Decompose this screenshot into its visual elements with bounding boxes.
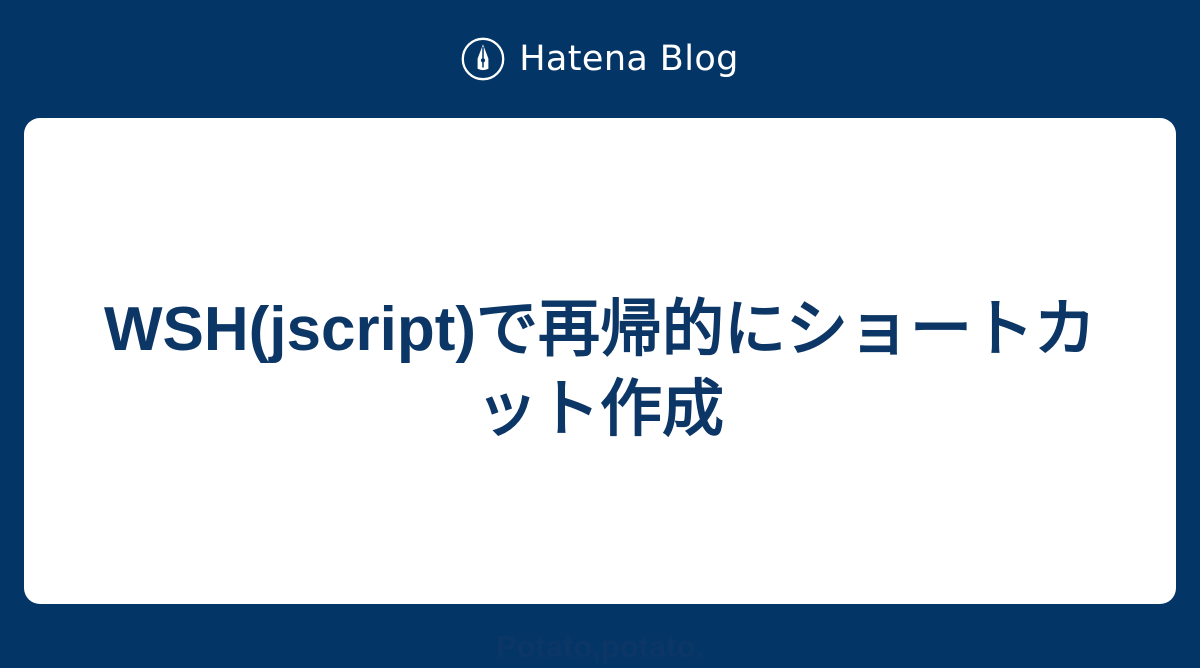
hatena-pen-nib-icon (461, 37, 505, 81)
ogp-card: Hatena Blog WSH(jscript)で再帰的にショートカット作成 P… (0, 0, 1200, 630)
blog-name: Potato,potato. (24, 626, 1176, 668)
brand-header: Hatena Blog (0, 0, 1200, 118)
content-card: WSH(jscript)で再帰的にショートカット作成 Potato,potato… (24, 118, 1176, 604)
brand-name: Hatena Blog (519, 42, 739, 77)
entry-title: WSH(jscript)で再帰的にショートカット作成 (24, 290, 1176, 450)
